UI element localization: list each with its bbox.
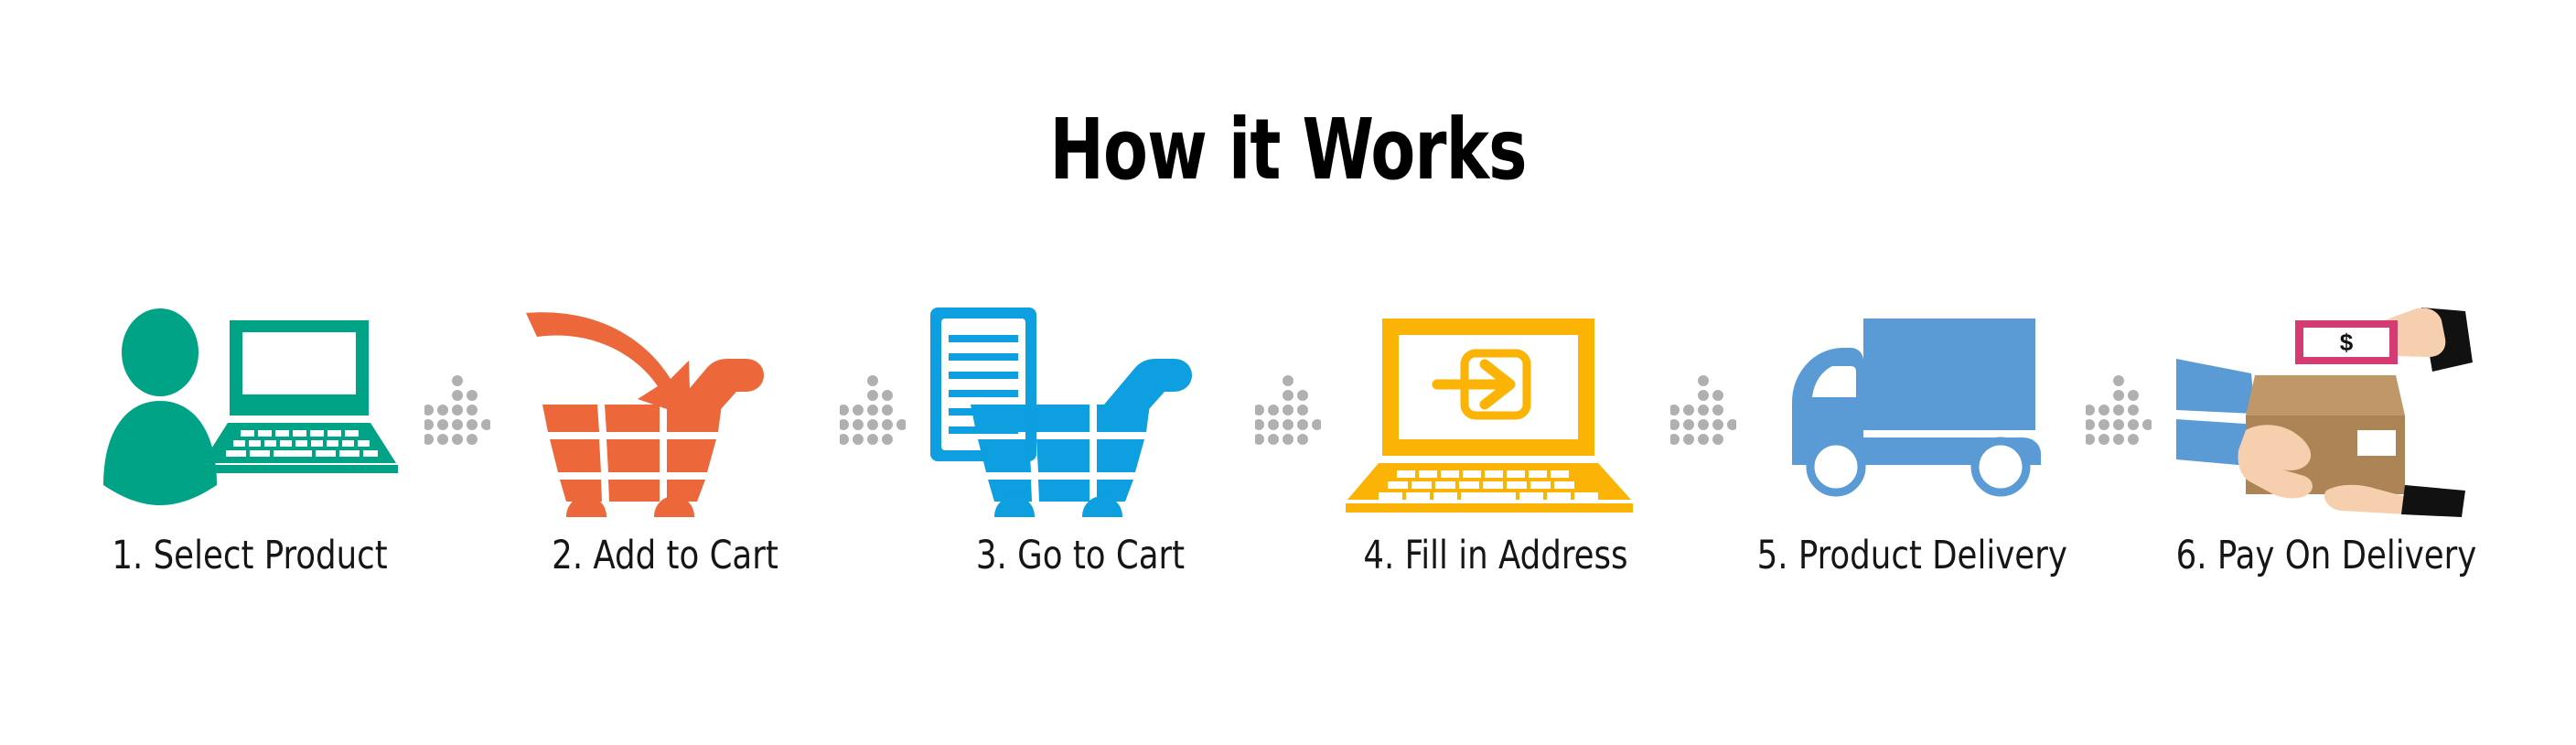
dotted-arrow-right-icon-5	[2078, 302, 2159, 632]
dotted-arrow-right-icon-4	[1663, 302, 1744, 632]
document-with-cart-icon	[925, 302, 1236, 517]
step-5-product-delivery[interactable]: 5. Product Delivery	[1744, 302, 2078, 632]
step-4-fill-in-address[interactable]: 4. Fill in Address	[1328, 302, 1663, 632]
step-2-add-to-cart[interactable]: 2. Add to Cart	[498, 302, 832, 632]
step-6-pay-on-delivery[interactable]: $ 6. Pay On D	[2159, 302, 2494, 632]
dotted-arrow-right-icon-1	[417, 302, 498, 632]
cart-with-arrow-icon	[510, 302, 821, 517]
step-6-label: 6. Pay On Delivery	[2173, 533, 2481, 578]
step-3-label: 3. Go to Cart	[927, 533, 1235, 578]
step-2-label: 2. Add to Cart	[511, 533, 820, 578]
steps-row: 1. Select Product	[0, 302, 2576, 632]
hands-exchange-box-money-icon: $	[2171, 302, 2482, 517]
step-1-label: 1. Select Product	[96, 533, 404, 578]
delivery-truck-icon	[1755, 302, 2066, 517]
person-with-laptop-icon	[94, 302, 405, 517]
laptop-login-icon	[1340, 302, 1651, 517]
step-3-go-to-cart[interactable]: 3. Go to Cart	[913, 302, 1248, 632]
infographic-page: How it Works	[0, 0, 2576, 745]
svg-text:$: $	[2340, 329, 2354, 356]
step-5-label: 5. Product Delivery	[1757, 533, 2066, 578]
dotted-arrow-right-icon-2	[832, 302, 913, 632]
dotted-arrow-right-icon-3	[1248, 302, 1328, 632]
step-4-label: 4. Fill in Address	[1342, 533, 1650, 578]
page-title: How it Works	[180, 108, 2396, 192]
step-1-select-product[interactable]: 1. Select Product	[82, 302, 417, 632]
